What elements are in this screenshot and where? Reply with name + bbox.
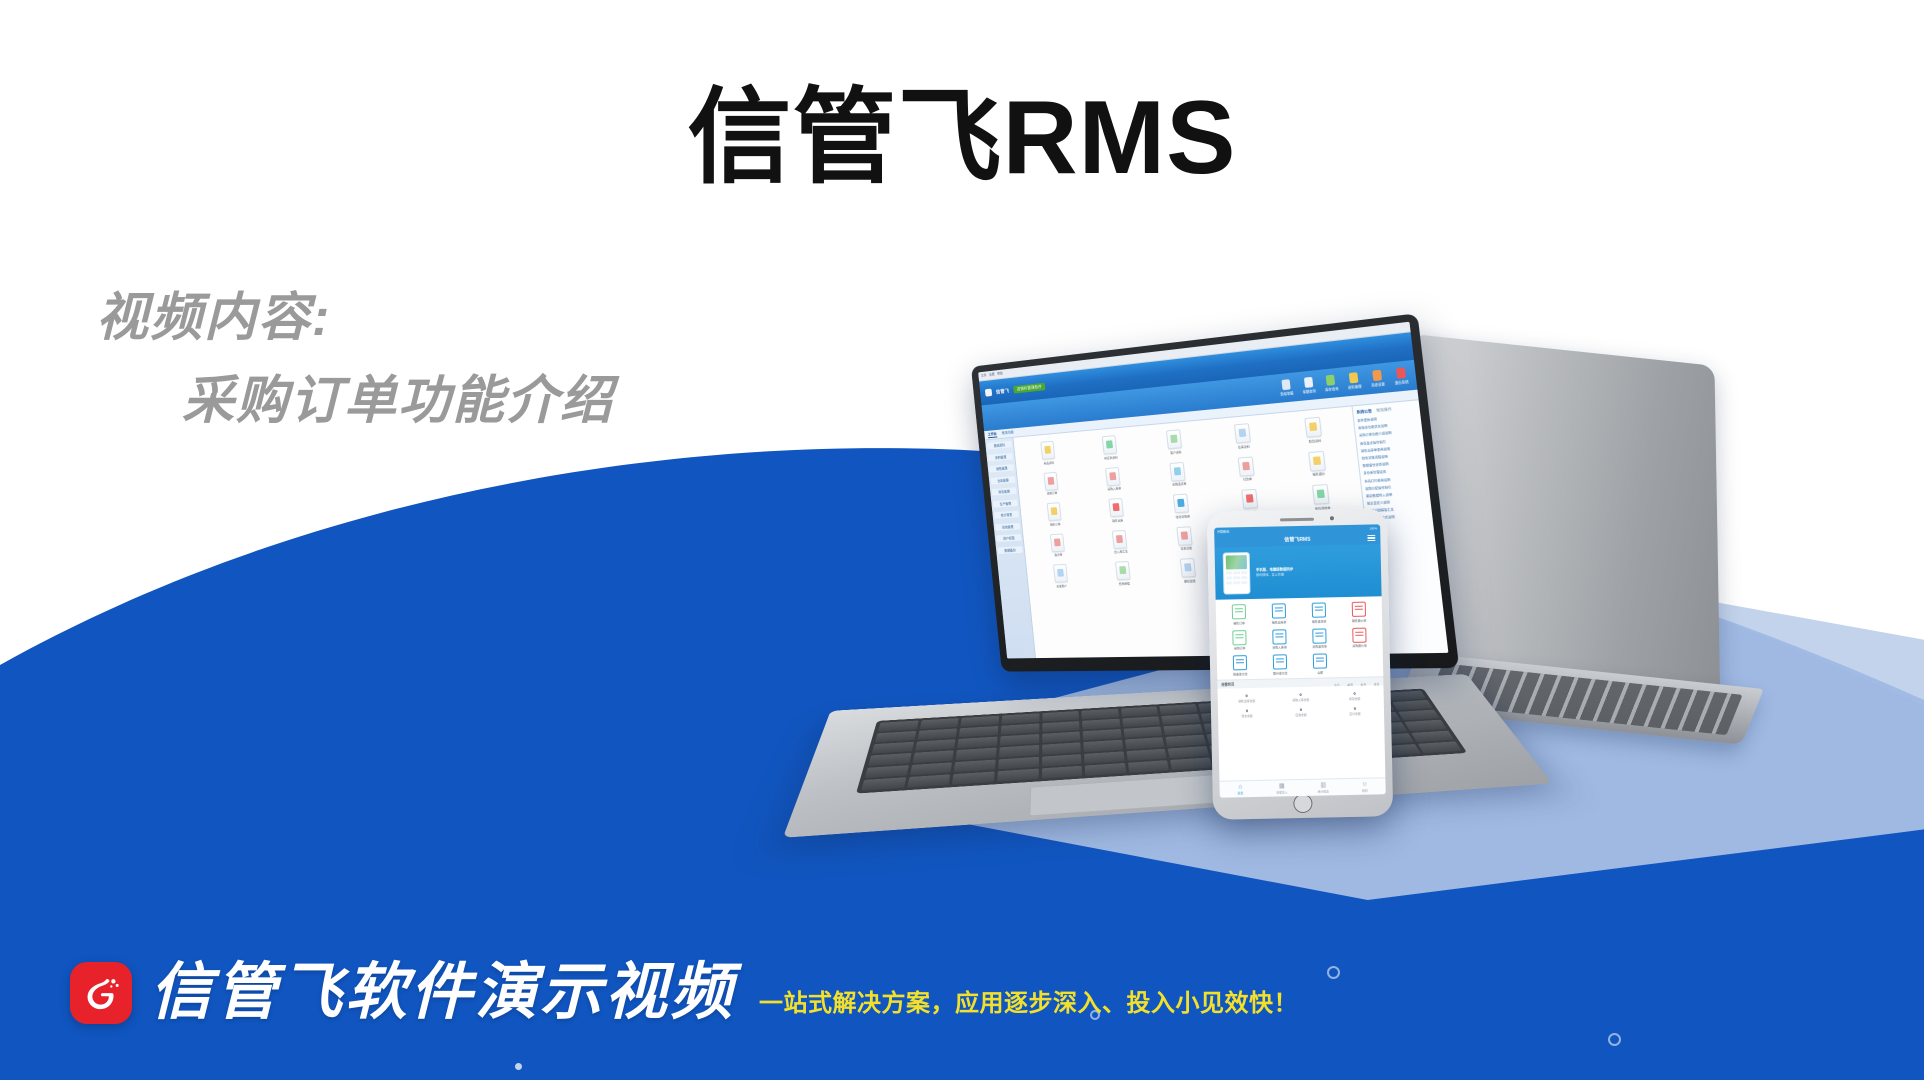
phone-tab-label: 统计报表 [1318,789,1329,793]
grid-item[interactable]: 客户资料 [1142,427,1207,457]
purchase-return-icon [1312,628,1326,643]
phone-grid-item[interactable]: 现金收付款 [1220,655,1260,676]
app-logo-icon [985,389,992,397]
phone-grid-label: 采购退货单 [1312,644,1327,648]
toolbar-button-data[interactable]: 资料管理 [1346,372,1361,390]
stock-icon [1326,375,1336,386]
module-icon [1102,435,1117,454]
module-icon [1180,558,1196,577]
module-icon [1177,526,1193,546]
stat-cell: 0库存金额 [1328,690,1382,701]
phone-grid-item[interactable]: 销售出库单 [1259,603,1299,624]
phone-grid-item[interactable]: 销售报价单 [1339,601,1379,622]
phone-tab-forms[interactable]: ▦单据录入 [1261,782,1303,794]
footer-brand-bar: 信管飞软件演示视频 一站式解决方案，应用逐步深入、投入小见效快！ [70,962,1298,1024]
sidebar-item-4[interactable]: 财务管理 [992,487,1017,495]
brand-name-text: 信管飞软件演示视频 [150,962,735,1024]
phone-grid-label: 现金收付款 [1233,672,1248,676]
phone-grid-item[interactable]: 采购退货单 [1299,628,1339,649]
brand-tagline: 一站式解决方案，应用逐步深入、投入小见效快！ [759,983,1298,1018]
decorative-dot [515,1063,522,1070]
sales-order-icon [1232,604,1246,619]
toolbar-label: 资料管理 [1348,383,1362,390]
stat-label: 库存金额 [1349,696,1360,700]
decorative-dot [1327,966,1340,979]
module-icon [1241,489,1258,509]
device-mockups: 文件 设置 帮助 信管飞 进销存管理软件 新增单据 [880,370,1924,930]
module-icon [1305,417,1323,438]
phone-app-title: 信管飞RMS [1284,536,1310,544]
grid-item[interactable]: 采购订单 [1021,470,1081,497]
stat-label: 应收金额 [1295,712,1306,716]
phone-grid-label: 采购订单 [1234,646,1246,650]
sidebar-item-0[interactable]: 基础资料 [987,441,1012,450]
phone-grid-label: 采购入库单 [1272,645,1287,649]
phone-grid-item[interactable]: 采购订单 [1219,629,1259,650]
gear-icon [1372,370,1382,381]
stat-cell: 0应付金额 [1328,705,1382,716]
right-panel-line[interactable]: 权限分配操作指引 [1365,482,1425,490]
grid-item[interactable]: 销售订单 [1024,501,1084,528]
phone-grid-label: 销售订单 [1233,621,1245,625]
grid-item-label: 往来对账 [1180,546,1192,551]
toolbar-label: 单据查询 [1302,388,1316,394]
stat-cell: 0销售出库金额 [1220,692,1274,703]
search-doc-icon [1304,377,1313,388]
stat-cell: 0现金金额 [1220,707,1274,718]
grid-item-label: 采购退货单 [1172,482,1187,487]
phone-grid-spacer [1340,652,1380,673]
toolbar-label: 新增单据 [1280,390,1294,396]
tab-workbench[interactable]: 工作台 [988,431,997,437]
slide-root: 信管飞RMS 视频内容: 采购订单功能介绍 [0,0,1924,1080]
phone-grid-item[interactable]: 采购入库单 [1259,629,1299,650]
module-icon [1046,502,1061,521]
phone-grid-label: 全部 [1317,670,1323,674]
page-title: 信管飞RMS [0,82,1924,194]
grid-item[interactable]: 采购退货单 [1146,459,1211,488]
module-icon [1238,456,1255,476]
purchase-quote-icon [1352,627,1366,642]
grid-item-label: 销售订单 [1050,522,1061,526]
decorative-dot [1608,1033,1621,1046]
toolbar-button-settings[interactable]: 系统设置 [1370,369,1386,387]
home-icon: ⌂ [1238,784,1242,790]
grid-item[interactable]: 付款单 [1212,454,1280,484]
grid-item-label: 收款对账单 [1175,514,1190,519]
grid-item-label: 仓库资料 [1238,444,1250,449]
phone-function-grid: 销售订单 销售出库单 销售退货单 销售报价单 采购订单 采购入库单 采购退货单 … [1216,596,1384,679]
phone-hero-text: 手机版、电脑版数据同步 随时随地、掌上管理 [1256,566,1373,578]
phone-grid-label: 销售退货单 [1312,619,1327,623]
forms-icon: ▦ [1279,783,1285,789]
tab-common-functions[interactable]: 常用功能 [1002,430,1015,436]
grid-item[interactable]: 收款对账单 [1149,492,1215,520]
stat-value: 0 [1300,706,1302,711]
grid-item-label: 商品资料 [1043,460,1054,465]
phone-preview-icon [1223,552,1251,595]
phone-tab-label: 首页 [1238,791,1244,795]
grid-item[interactable]: 销售报价 [1282,448,1354,478]
sidebar-item-2[interactable]: 销售管理 [989,464,1014,472]
grid-item-label: 采购入库单 [1107,486,1121,491]
module-icon [1170,461,1186,481]
module-icon [1115,561,1131,580]
phone-camera-icon [1330,516,1334,520]
grid-item-label: 销售报价 [1312,472,1325,477]
right-panel-line[interactable]: 条码打印使用说明 [1364,475,1424,483]
grid-item[interactable]: 商品资料 [1018,439,1078,467]
phone-screen: 中国移动 100% 信管飞RMS 手机版、电脑版数据同步 [1214,524,1386,797]
phone-grid-item[interactable]: 采购报价单 [1339,627,1379,648]
module-icon [1053,564,1068,583]
sidebar-item-1[interactable]: 采购管理 [988,452,1013,461]
phone-grid-label: 销售报价单 [1352,618,1367,622]
laptop-base [783,674,1553,838]
phone-hero-subtitle: 随时随地、掌上管理 [1256,571,1373,578]
grid-item[interactable]: 费用单据 [1092,560,1155,586]
sidebar-item-5[interactable]: 生产管理 [993,499,1018,507]
right-tab-common-ops[interactable]: 常用操作 [1376,407,1392,414]
stat-label: 应付金额 [1349,711,1360,715]
grid-item-label: 采购订单 [1047,491,1058,496]
grid-item[interactable]: 库存调拨单 [1286,482,1358,512]
right-panel-line[interactable]: 期初数据导入说明 [1366,490,1426,498]
stat-value: 0 [1354,705,1356,710]
app-menu-file[interactable]: 文件 [981,374,987,378]
hamburger-menu-icon[interactable] [1367,534,1375,541]
toolbar-button-new-doc[interactable]: 新增单据 [1279,379,1294,397]
phone-tab-profile[interactable]: ☺我的 [1344,781,1386,793]
module-icon [1234,423,1251,443]
grid-all-icon [1313,653,1327,668]
sales-out-icon [1272,603,1286,618]
grid-item[interactable]: 资金账户 [1031,563,1091,589]
phone-grid-label: 银行收付款 [1273,671,1288,675]
toolbar-button-exit[interactable]: 退出系统 [1393,367,1409,385]
grid-item-label: 付款单 [1243,477,1252,482]
phone-tab-report[interactable]: ▥统计报表 [1302,782,1344,794]
right-panel-line[interactable]: 报表自定义说明 [1367,498,1428,506]
grid-item[interactable]: 销售出库 [1086,496,1149,524]
module-icon [1040,441,1055,460]
phone-tabbar: ⌂首页 ▦单据录入 ▥统计报表 ☺我的 [1219,777,1385,797]
new-doc-icon [1281,379,1290,390]
smartphone-mockup: 中国移动 100% 信管飞RMS 手机版、电脑版数据同步 [1207,508,1393,820]
grid-item-label: 费用单据 [1119,581,1130,585]
hero-keypad [1226,571,1247,584]
laptop-front-open: 文件 设置 帮助 信管飞 进销存管理软件 新增单据 [880,340,1500,900]
stat-value: 0 [1245,693,1247,698]
right-tab-announcements[interactable]: 系统公告 [1356,409,1372,416]
sales-return-icon [1312,602,1326,617]
phone-grid-item[interactable]: 销售退货单 [1299,602,1339,623]
brand-bird-logo-icon [70,962,132,1024]
grid-item[interactable]: 出入库汇总 [1089,528,1152,555]
module-icon [1308,450,1326,471]
grid-item-label: 职员资料 [1309,438,1322,443]
app-menu-help[interactable]: 帮助 [997,372,1003,376]
module-icon [1112,529,1128,548]
bank-icon [1273,654,1287,669]
grid-item[interactable]: 职员资料 [1278,414,1350,445]
toolbar-label: 库存查询 [1325,386,1339,392]
phone-grid-item[interactable]: 银行收付款 [1260,654,1300,675]
grid-item-label: 资金账户 [1056,584,1067,588]
module-icon [1050,533,1065,552]
phone-carrier: 中国移动 [1217,529,1229,533]
module-icon [1108,498,1124,517]
phone-tab-label: 我的 [1362,788,1368,792]
phone-stats-grid: 0销售出库金额 0采购入库金额 0库存金额 0现金金额 0应收金额 0应付金额 [1217,685,1384,723]
grid-item-label: 盘点单 [1054,553,1062,557]
grid-item-label: 客户资料 [1170,450,1182,455]
subtitle-topic: 采购订单功能介绍 [182,369,614,434]
module-icon [1166,429,1182,449]
module-icon [1105,467,1120,486]
stat-cell: 0应收金额 [1274,706,1328,717]
phone-tab-label: 单据录入 [1276,790,1287,794]
app-menu-settings[interactable]: 设置 [989,373,995,377]
grid-item[interactable]: 供应商资料 [1079,433,1141,462]
cash-icon [1233,655,1247,670]
purchase-order-icon [1232,630,1246,645]
stat-value: 0 [1246,708,1248,713]
stat-label: 销售出库金额 [1238,698,1255,702]
toolbar-button-search-doc[interactable]: 单据查询 [1301,377,1316,395]
toolbar-label: 系统设置 [1371,381,1385,388]
sidebar-item-8[interactable]: 用户权限 [996,534,1021,542]
grid-item[interactable]: 仓库资料 [1209,421,1277,451]
grid-item[interactable]: 采购入库单 [1082,465,1145,493]
sidebar-item-9[interactable]: 数据备份 [998,546,1023,554]
stat-label: 采购入库金额 [1292,697,1309,701]
grid-item-label: 出入库汇总 [1114,549,1128,554]
profile-icon: ☺ [1362,781,1368,787]
exit-icon [1396,367,1406,378]
stat-value: 0 [1299,691,1301,696]
grid-item-label: 期初建账 [1184,579,1196,583]
module-icon [1043,471,1058,490]
purchase-in-icon [1272,629,1286,644]
phone-section-title: 经营状况 [1221,681,1234,686]
data-icon [1349,372,1359,383]
sidebar-item-3[interactable]: 仓库管理 [990,476,1015,484]
module-icon [1312,484,1330,505]
phone-home-button[interactable] [1293,794,1312,813]
toolbar-button-stock[interactable]: 库存查询 [1324,374,1339,392]
phone-grid-item[interactable]: 销售订单 [1219,604,1259,625]
toolbar-label: 退出系统 [1394,379,1409,386]
grid-item-label: 销售出库 [1112,518,1123,523]
subtitle-block: 视频内容: 采购订单功能介绍 [96,286,614,434]
app-brand-name: 信管飞 [996,387,1010,395]
sidebar-item-6[interactable]: 统计报表 [994,511,1019,519]
right-panel-line[interactable]: 多仓库管理设置 [1363,467,1423,475]
stat-cell: 0采购入库金额 [1274,691,1328,702]
module-icon [1173,494,1189,514]
subtitle-label: 视频内容: [96,286,614,351]
phone-battery-label: 100% [1369,526,1377,530]
app-banner-badge: 进销存管理软件 [1013,383,1046,394]
phone-tab-home[interactable]: ⌂首页 [1219,783,1261,795]
sidebar-item-7[interactable]: 系统管理 [995,522,1020,530]
phone-grid-label: 采购报价单 [1352,644,1367,648]
grid-item-label: 供应商资料 [1104,455,1118,460]
hero-thumbnail [1226,555,1247,569]
sales-quote-icon [1352,602,1366,617]
phone-grid-item[interactable]: 全部 [1300,653,1340,674]
phone-speaker-icon [1280,518,1314,522]
phone-hero-banner: 手机版、电脑版数据同步 随时随地、掌上管理 [1215,544,1382,599]
stat-label: 现金金额 [1241,714,1252,718]
stat-value: 0 [1353,690,1355,695]
phone-grid-label: 销售出库单 [1272,620,1287,624]
report-icon: ▥ [1320,782,1326,788]
grid-item[interactable]: 盘点单 [1028,532,1088,558]
